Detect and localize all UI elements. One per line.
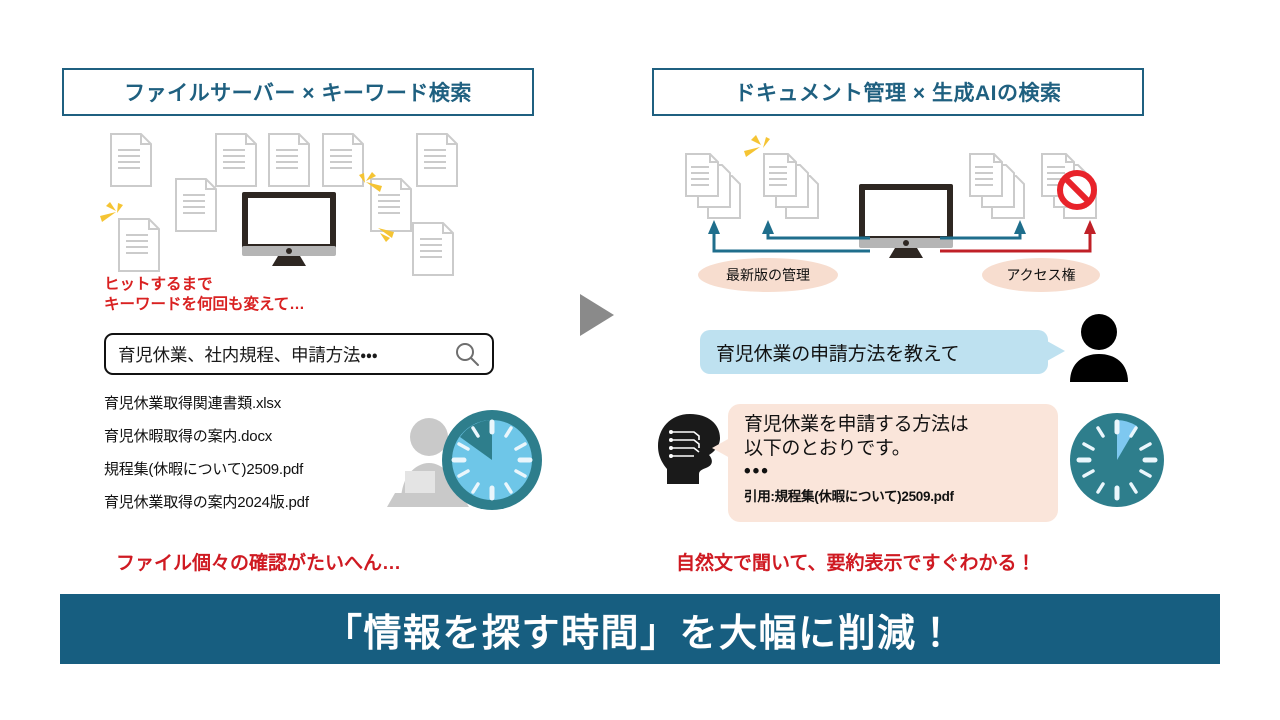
document-icon: [268, 133, 310, 187]
chat-bubble-ai-ellipsis: •••: [744, 463, 1044, 480]
sparkle-icon: [368, 218, 398, 251]
sparkle-icon: [352, 170, 386, 205]
chat-bubble-ai-text: 育児休業を申請する方法は 以下のとおりです。: [744, 413, 1044, 462]
pill-access-right: アクセス権: [982, 258, 1100, 292]
clock-icon-slow: [440, 408, 544, 517]
sparkle-icon: [740, 133, 774, 168]
chat-bubble-user: 育児休業の申請方法を教えて: [700, 330, 1048, 374]
panel-title-right: ドキュメント管理 × 生成AIの検索: [652, 68, 1144, 116]
arrow-connector-group: [690, 216, 1160, 264]
document-icon: [416, 133, 458, 187]
search-input[interactable]: 育児休業、社内規程、申請方法・・・: [104, 333, 494, 375]
document-icon: [215, 133, 257, 187]
document-icon: [110, 133, 152, 187]
right-summary-caption: 自然文で聞いて、要約表示ですぐわかる！: [676, 548, 1035, 575]
document-icon: [175, 178, 217, 232]
monitor-icon: [240, 190, 338, 273]
prohibited-icon: [1055, 168, 1099, 212]
left-hint-text: ヒットするまで キーワードを何回も変えて…: [104, 275, 305, 316]
bottom-banner: 「情報を探す時間」を大幅に削減！: [60, 594, 1220, 664]
document-stack-icon: [968, 152, 1040, 224]
chat-bubble-ai-citation: 引用:規程集(休暇について)2509.pdf: [744, 485, 1044, 505]
person-icon: [1062, 312, 1136, 391]
search-input-value: 育児休業、社内規程、申請方法・・・: [118, 342, 454, 367]
pill-version-control: 最新版の管理: [698, 258, 838, 292]
clock-icon-fast: [1065, 408, 1169, 517]
magnifier-icon[interactable]: [454, 341, 480, 367]
sparkle-icon: [96, 200, 130, 235]
pill-label: 最新版の管理: [726, 265, 810, 285]
list-item[interactable]: 育児休業取得関連書類.xlsx: [104, 392, 434, 413]
panel-title-left: ファイルサーバー × キーワード検索: [62, 68, 534, 116]
left-summary-caption: ファイル個々の確認がたいへん…: [116, 548, 401, 575]
bottom-banner-text: 「情報を探す時間」を大幅に削減！: [324, 602, 956, 657]
pill-label: アクセス権: [1006, 265, 1075, 285]
chat-bubble-user-text: 育児休業の申請方法を教えて: [716, 339, 959, 366]
transition-arrow-icon: [578, 292, 618, 343]
document-icon: [412, 222, 454, 276]
slide-canvas: ファイルサーバー × キーワード検索: [0, 0, 1280, 720]
chat-bubble-ai: 育児休業を申請する方法は 以下のとおりです。 ••• 引用:規程集(休暇について…: [728, 404, 1058, 522]
